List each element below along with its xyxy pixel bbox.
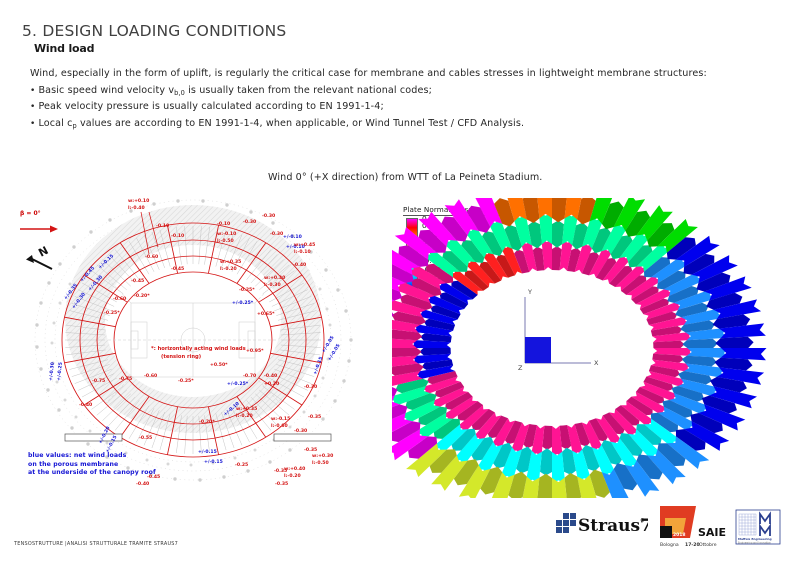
logo-maffeis-engineering: Maffeis Engineering Engineering and Inno…: [734, 506, 784, 552]
red-value: -0.30: [262, 213, 275, 219]
bullet-3-sub: p: [72, 122, 76, 130]
wl-label-l: l:-0.20: [284, 473, 301, 479]
wl-label-w: w:+0.30: [312, 453, 333, 459]
red-value: -0.60: [145, 254, 158, 260]
wl-label-w: w:-0.15: [271, 416, 290, 422]
saie-dates: 17-20: [685, 542, 700, 548]
wl-label-l: l:-0.60: [271, 423, 288, 429]
red-value: +0.20: [264, 381, 279, 387]
wl-label-l: l:-0.40: [128, 205, 145, 211]
blue-value: +/-0.15: [204, 459, 223, 465]
blue-legend-line-3: at the underside of the canopy roof: [28, 469, 156, 478]
wl-label-l: l:-0.10: [294, 249, 311, 255]
logo-saie: 2018 SAIE Bologna 17-20 Ottobre: [656, 504, 730, 554]
page-title: 5. DESIGN LOADING CONDITIONS: [22, 22, 286, 40]
slide-root: 5. DESIGN LOADING CONDITIONS Wind load W…: [0, 0, 800, 566]
mesh-facet: [552, 198, 567, 222]
bullet-item-2: Peak velocity pressure is usually calcul…: [30, 99, 775, 116]
bullet-1-pre: Basic speed wind velocity v: [38, 85, 174, 96]
wl-label-w: w:+0.35: [220, 259, 241, 265]
wl-label-l: l:-0.30: [264, 282, 281, 288]
red-value: +0.50*: [210, 362, 228, 368]
tension-ring-note: *: horizontally acting wind loads (tensi…: [151, 346, 246, 360]
red-value: -0.20*: [199, 419, 215, 425]
fea-pressure-plot: Y X Z: [392, 198, 800, 498]
wl-label-l: l:-0.50: [312, 460, 329, 466]
figure-caption: Wind 0° (+X direction) from WTT of La Pe…: [268, 172, 542, 183]
body-text-block: Wind, especially in the form of uplift, …: [30, 66, 775, 132]
axis-label-x: X: [594, 359, 599, 367]
red-value: -0.25*: [104, 310, 120, 316]
bullet-item-3: Local cp values are according to EN 1991…: [30, 116, 775, 133]
wl-label-l: l:-0.20: [236, 413, 253, 419]
bullet-item-1: Basic speed wind velocity vb,0 is usuall…: [30, 83, 775, 100]
wind-load-plan-diagram: β = 0° N -0.10 -0.10 -0.10 -0.30 -0.30 -…: [8, 185, 408, 495]
red-value: -0.10: [156, 223, 169, 229]
red-value: -0.25*: [239, 287, 255, 293]
blue-value: +/-0.15: [198, 449, 217, 455]
red-value: -0.55: [139, 435, 152, 441]
beta-angle-label: β = 0°: [20, 210, 41, 217]
bullet-3-post: values are according to EN 1991-1-4, whe…: [77, 118, 524, 129]
page-subtitle: Wind load: [34, 42, 94, 55]
wl-label-l: l:-0.50: [217, 238, 234, 244]
maffeis-grid: [739, 514, 756, 535]
blue-values-legend: blue values: net wind loads on the porou…: [28, 452, 156, 478]
saie-month: Ottobre: [699, 542, 717, 548]
saie-location: Bologna: [660, 542, 679, 548]
note-line-2: (tension ring): [161, 354, 201, 360]
red-value: -0.60: [144, 373, 157, 379]
red-value: -0.45: [131, 278, 144, 284]
note-line-1: *: horizontally acting wind loads: [151, 346, 246, 352]
straus7-mark: [556, 513, 576, 533]
red-value: -0.30: [304, 384, 317, 390]
red-value: -0.35: [275, 481, 288, 487]
red-value: -0.45: [171, 266, 184, 272]
saie-wordmark: SAIE: [698, 526, 726, 539]
wl-label-w: w:+0.40: [284, 466, 305, 472]
north-label: N: [36, 244, 50, 260]
red-value: -0.30: [294, 428, 307, 434]
blue-value: +/-0.10: [283, 234, 302, 240]
logo-bar: Straus7 ® 2018 SAIE Bologna 17-20 Ottobr…: [556, 504, 792, 550]
red-value: +0.95*: [246, 348, 264, 354]
blue-value: +/-0.25*: [232, 300, 254, 306]
mesh-inner-opening: [451, 270, 654, 426]
red-value: -0.40: [79, 402, 92, 408]
red-value: -0.35: [308, 414, 321, 420]
bullet-2-pre: Peak velocity pressure is usually calcul…: [38, 101, 383, 112]
maffeis-tagline: Engineering and Innovation: [738, 542, 772, 545]
red-value: -0.40: [136, 481, 149, 487]
wl-label-w: w:+0.10: [128, 198, 149, 204]
axis-label-z: Z: [518, 364, 523, 372]
mesh-facet: [537, 474, 552, 498]
red-value: -0.10: [217, 221, 230, 227]
wl-label-w: w:+0.45: [294, 242, 315, 248]
north-arrow: N: [26, 244, 52, 269]
red-value: -0.40: [293, 262, 306, 268]
intro-paragraph: Wind, especially in the form of uplift, …: [30, 66, 775, 83]
wind-direction-indicator: β = 0°: [20, 210, 58, 233]
bullet-1-post: is usually taken from the relevant natio…: [185, 85, 432, 96]
red-value: -0.75: [119, 376, 132, 382]
saie-black-square: [660, 526, 672, 538]
saie-year: 2018: [673, 532, 686, 538]
logo-straus7: Straus7 ®: [556, 510, 648, 544]
blue-value: +/-0.30: [48, 362, 56, 381]
straus7-wordmark: Straus7: [578, 516, 648, 536]
blue-legend-line-1: blue values: net wind loads: [28, 452, 156, 461]
red-value: -0.25: [235, 462, 248, 468]
maffeis-m-icon: [760, 514, 770, 536]
red-value: -0.30: [270, 231, 283, 237]
wl-label-w: w:+0.35: [236, 406, 257, 412]
blue-value: +/-0.15: [312, 356, 324, 376]
red-value: -0.70: [243, 373, 256, 379]
wl-label-w: w:+0.30: [264, 275, 285, 281]
red-value: -0.60: [113, 296, 126, 302]
red-value: -0.20*: [134, 293, 150, 299]
bullet-1-sub: b,0: [174, 89, 185, 97]
axis-label-y: Y: [527, 288, 532, 296]
blue-value: +/-0.25: [56, 362, 64, 381]
canopy-mesh-ring: [392, 198, 767, 498]
wl-label-w: w:-0.10: [217, 231, 236, 237]
red-value: -0.40: [264, 373, 277, 379]
red-value: -0.35: [304, 447, 317, 453]
bullet-3-pre: Local c: [38, 118, 72, 129]
registered-icon: ®: [640, 517, 645, 524]
footer-text: TENSOSTRUTTURE |ANALISI STRUTTURALE TRAM…: [14, 541, 178, 547]
blue-legend-line-2: on the porous membrane: [28, 461, 156, 470]
mesh-facet: [715, 337, 753, 348]
blue-value: +/-0.25*: [227, 381, 249, 387]
red-value: -0.10: [171, 233, 184, 239]
red-value: +0.65*: [257, 311, 275, 317]
maffeis-wordmark: Maffeis Engineering: [738, 537, 772, 541]
red-value: -0.75: [92, 378, 105, 384]
wl-label-l: l:-0.20: [220, 266, 237, 272]
red-value: -0.30: [243, 219, 256, 225]
red-value: -0.25*: [178, 378, 194, 384]
